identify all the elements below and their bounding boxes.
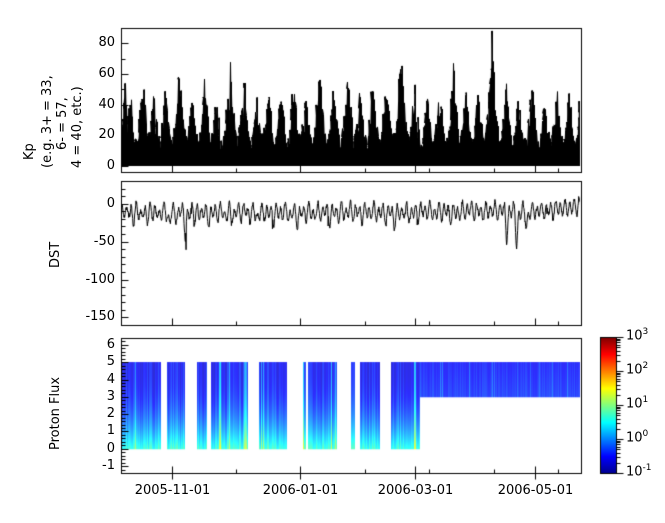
- kp-ytick-label: 40: [98, 97, 115, 112]
- colorbar-tick-label: 101: [626, 395, 648, 411]
- pf-ytick-label: 4: [107, 372, 115, 387]
- dst-ytick-label: -100: [85, 272, 115, 287]
- colorbar-tick-exponent: -1: [643, 463, 652, 473]
- colorbar-tick-label: 102: [626, 361, 648, 377]
- colorbar-tick-mantissa: 10: [626, 328, 643, 343]
- pf-ytick-label: 0: [107, 441, 115, 456]
- pf-ytick-label: 3: [107, 389, 115, 404]
- proton-flux-axis-label-wrap: Proton Flux: [48, 377, 63, 450]
- kp-ytick-label: 0: [107, 158, 115, 173]
- colorbar-tick-mantissa: 10: [626, 396, 643, 411]
- colorbar-tick-mantissa: 10: [626, 362, 643, 377]
- dst-ytick-label: 0: [107, 196, 115, 211]
- kp-axis-label: Kp: [22, 143, 37, 160]
- colorbar-tick-label: 100: [626, 429, 648, 445]
- kp-axis-label-line2: (e.g. 3+ = 33,: [40, 75, 55, 168]
- colorbar-tick-exponent: 0: [643, 429, 649, 439]
- dst-ytick-label: -150: [85, 309, 115, 324]
- kp-axis-label-line3: 6- = 57,: [55, 97, 70, 150]
- colorbar-tick-exponent: 3: [643, 327, 649, 337]
- pf-ytick-label: 1: [107, 423, 115, 438]
- colorbar-tick-mantissa: 10: [626, 430, 643, 445]
- colorbar-tick-label: 103: [626, 327, 648, 343]
- colorbar[interactable]: [600, 337, 616, 473]
- dst-axis-label-wrap: DST: [48, 242, 63, 268]
- proton-flux-panel-plot-area[interactable]: [121, 338, 581, 473]
- pf-ytick-label: -1: [102, 458, 115, 473]
- colorbar-tick-mantissa: 10: [626, 464, 643, 479]
- proton-flux-axis-label: Proton Flux: [48, 377, 63, 450]
- colorbar-tick-exponent: 2: [643, 361, 649, 371]
- kp-axis-label-line2-wrap: (e.g. 3+ = 33,: [40, 75, 55, 168]
- kp-ytick-label: 20: [98, 127, 115, 142]
- pf-ytick-label: 5: [107, 354, 115, 369]
- dst-axis-label: DST: [48, 242, 63, 268]
- kp-axis-label-line4-wrap: 4 = 40, etc.): [70, 86, 85, 168]
- kp-axis-label-line3-wrap: 6- = 57,: [55, 97, 70, 150]
- kp-axis-label-line1: Kp: [22, 143, 37, 160]
- xaxis: [121, 473, 581, 503]
- kp-axis-label-line4: 4 = 40, etc.): [70, 86, 85, 168]
- colorbar-tick-exponent: 1: [643, 395, 649, 405]
- pf-ytick-label: 2: [107, 406, 115, 421]
- kp-ytick-label: 80: [98, 35, 115, 50]
- kp-panel-plot-area[interactable]: [121, 28, 581, 172]
- colorbar-tick-label: 10-1: [626, 463, 652, 479]
- pf-ytick-label: 6: [107, 337, 115, 352]
- kp-ytick-label: 60: [98, 66, 115, 81]
- figure-canvas: Kp (e.g. 3+ = 33, 6- = 57, 4 = 40, etc.)…: [0, 0, 665, 523]
- dst-ytick-label: -50: [94, 234, 115, 249]
- dst-panel-plot-area[interactable]: [121, 181, 581, 325]
